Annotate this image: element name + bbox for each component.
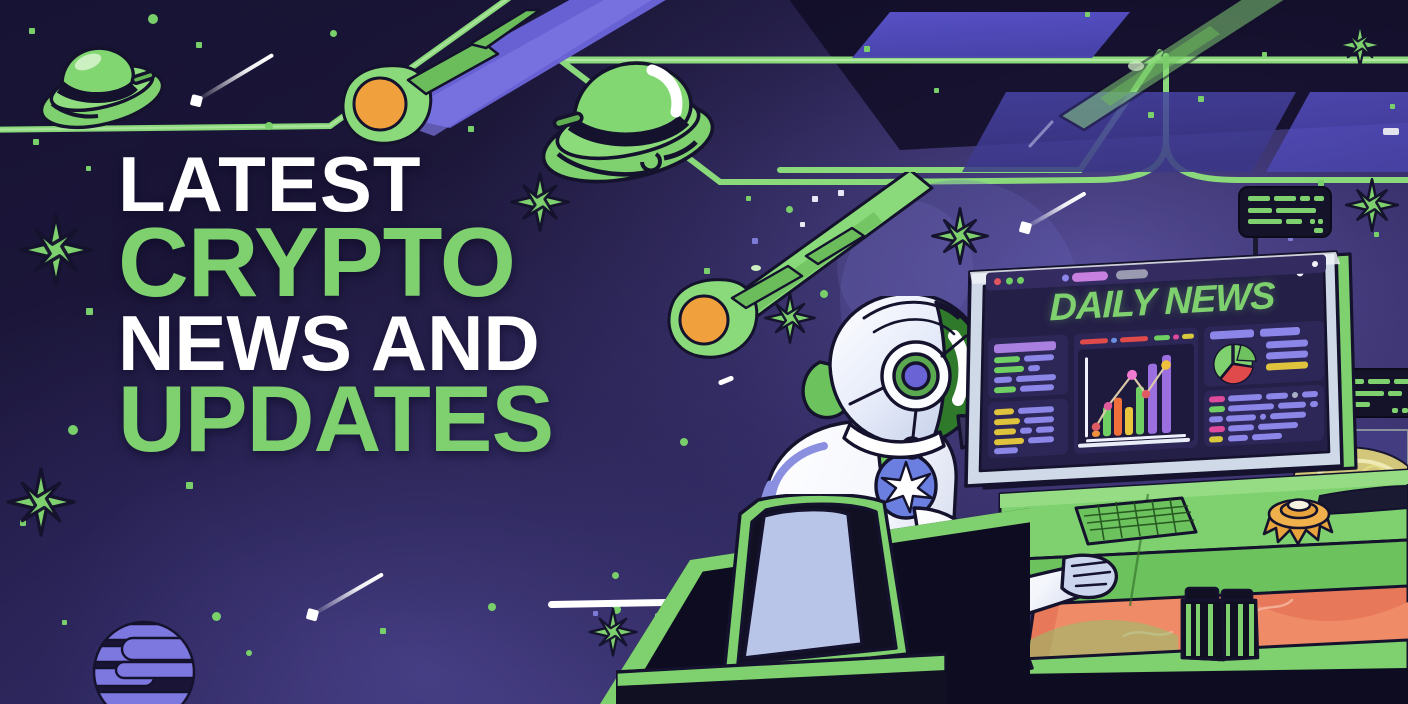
chart-point — [1104, 402, 1112, 411]
maximize-dot[interactable] — [1017, 277, 1024, 284]
chart-legend-item — [1080, 338, 1108, 345]
panel-news-feed[interactable] — [1204, 384, 1324, 446]
list-line — [1028, 365, 1040, 372]
list-line — [994, 366, 1024, 374]
chart-legend-item — [1120, 336, 1148, 343]
list-line — [994, 376, 1012, 383]
chart-legend-item — [1173, 334, 1179, 339]
chart-line-series — [1078, 344, 1194, 448]
feed-tag — [1209, 416, 1223, 423]
chart-legend-item — [1182, 334, 1194, 340]
panel-ticker-list[interactable] — [988, 398, 1068, 458]
pie-legend — [1266, 339, 1308, 348]
feed-line — [1266, 392, 1288, 399]
pie-legend — [1266, 361, 1308, 370]
ticker-line — [994, 447, 1018, 454]
ticker-line — [994, 438, 1024, 446]
panel-article-list[interactable] — [988, 334, 1068, 398]
chart-point — [1161, 360, 1171, 370]
ticker-line — [994, 418, 1020, 425]
feed-line — [1228, 403, 1274, 411]
monitor[interactable]: DAILY NEWS — [948, 236, 1368, 504]
feed-tag — [1209, 426, 1225, 433]
feed-tag — [1209, 406, 1225, 413]
feed-line — [1226, 414, 1256, 422]
feed-line — [1228, 424, 1254, 431]
panel-allocation-pie[interactable] — [1204, 320, 1324, 386]
list-line — [1020, 384, 1054, 392]
ticker-line — [1018, 406, 1054, 414]
browser-tab[interactable] — [1116, 269, 1148, 280]
list-line — [1016, 374, 1056, 382]
feed-tag — [1209, 436, 1223, 443]
list-line — [994, 386, 1016, 393]
ticker-line — [994, 428, 1016, 435]
list-line — [994, 356, 1020, 363]
chart-legend-item — [1111, 338, 1117, 343]
feed-line — [1258, 422, 1298, 430]
ticker-line — [1028, 436, 1054, 443]
chart-legend-item — [1154, 335, 1170, 341]
panel-market-chart[interactable] — [1074, 327, 1198, 454]
tab-indicator-dot — [1062, 274, 1069, 281]
screen-content: DAILY NEWS — [982, 248, 1330, 467]
headline-line-2: CRYPTO — [118, 217, 553, 309]
list-header — [994, 341, 1056, 353]
feed-line — [1228, 394, 1262, 402]
feed-tag — [1209, 396, 1225, 403]
feed-line — [1278, 401, 1306, 409]
pie-chart — [1208, 340, 1260, 387]
headline-line-4: UPDATES — [118, 375, 553, 463]
chair — [616, 494, 946, 704]
ticker-line — [1020, 427, 1032, 434]
hero-banner: DAILY NEWS — [0, 0, 1408, 704]
menu-dot[interactable] — [1312, 261, 1318, 267]
feed-line — [1228, 435, 1248, 442]
ticker-line — [994, 408, 1014, 415]
feed-line — [1302, 391, 1318, 398]
feed-line — [1252, 433, 1282, 441]
page-title: LATEST CRYPTO NEWS AND UPDATES — [118, 148, 553, 463]
chart-point — [1092, 422, 1100, 431]
chart-plot — [1078, 344, 1194, 448]
minimize-dot[interactable] — [1006, 277, 1013, 284]
ticker-line — [1036, 426, 1054, 433]
pie-legend — [1266, 350, 1308, 359]
pie-header — [1210, 329, 1254, 339]
feed-line — [1270, 411, 1306, 419]
list-line — [1024, 354, 1054, 362]
feed-dot — [1292, 392, 1298, 398]
ticker-line — [1024, 416, 1054, 424]
browser-tab-active[interactable] — [1072, 271, 1108, 282]
feed-line — [1310, 401, 1318, 407]
pie-header — [1260, 327, 1300, 337]
feed-line — [1260, 414, 1266, 420]
close-dot[interactable] — [994, 278, 1001, 285]
